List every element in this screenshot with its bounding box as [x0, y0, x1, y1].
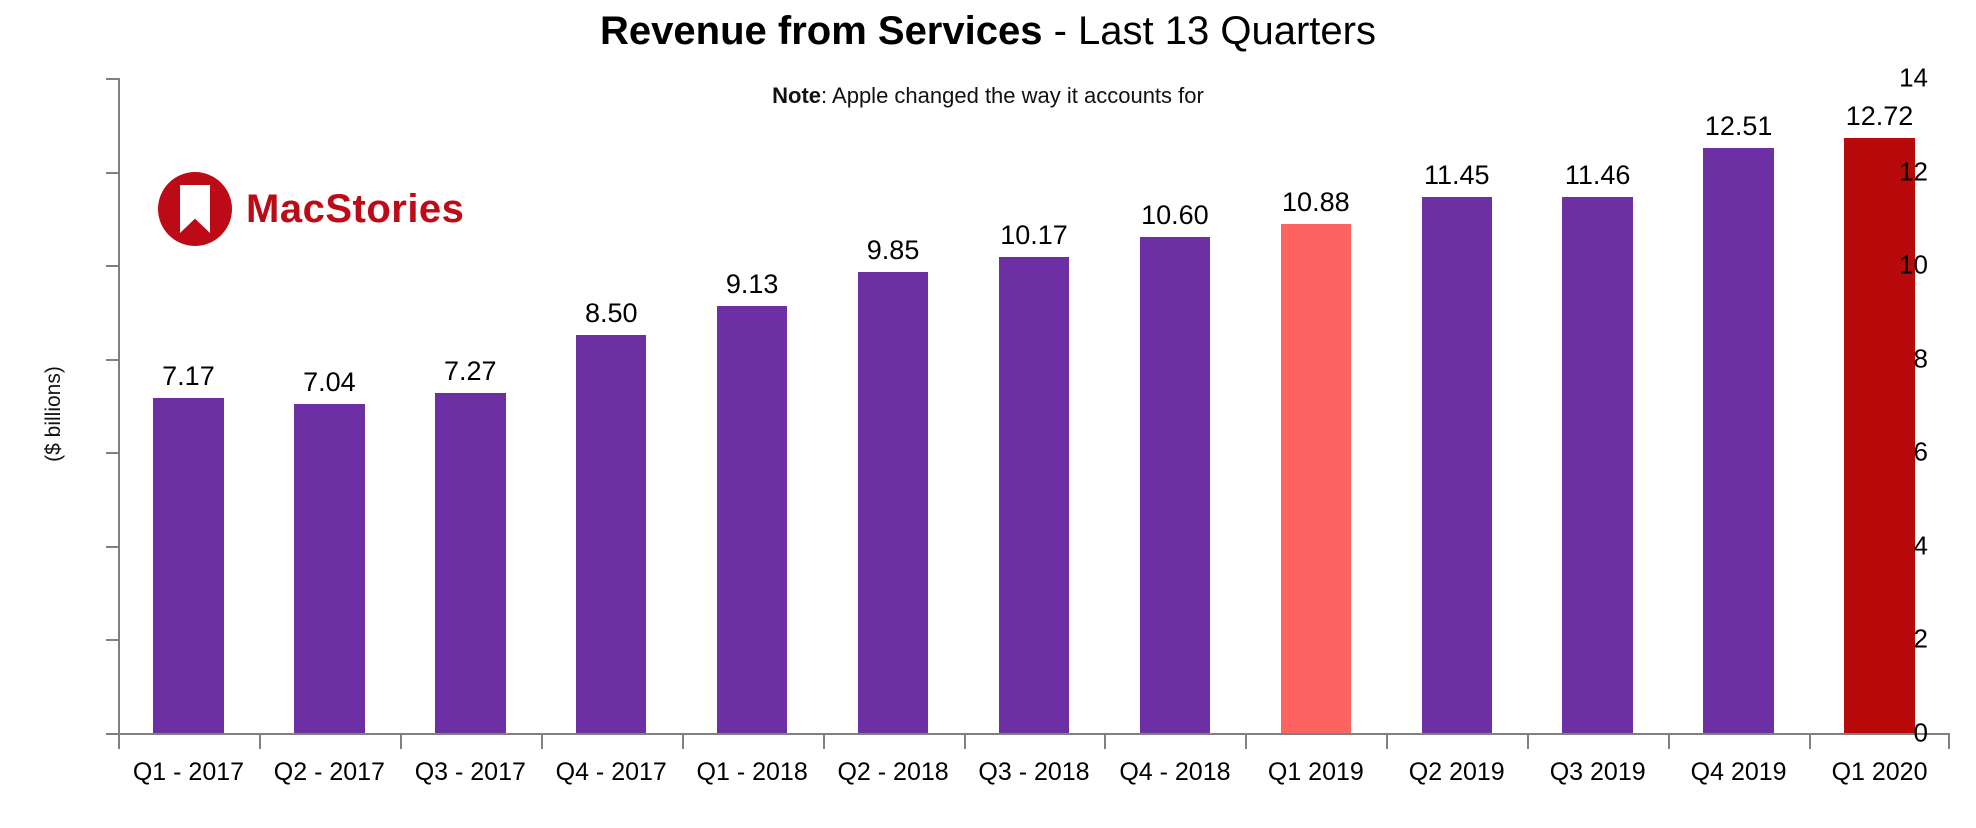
bar[interactable]: 12.51	[1703, 148, 1773, 733]
x-axis-tick-label: Q1 - 2018	[697, 758, 808, 787]
x-axis-tick-label: Q4 - 2017	[556, 758, 667, 787]
x-axis-tick	[118, 735, 120, 749]
y-axis-tick-label: 6	[1914, 437, 1928, 468]
bar[interactable]: 7.04	[294, 404, 364, 733]
x-axis-tick-label: Q1 2019	[1268, 758, 1364, 787]
x-axis-tick	[964, 735, 966, 749]
x-axis-tick	[1104, 735, 1106, 749]
bar[interactable]: 7.27	[435, 393, 505, 733]
x-axis-tick-label: Q2 2019	[1409, 758, 1505, 787]
chart-canvas: Revenue from Services - Last 13 Quarters…	[0, 0, 1976, 828]
x-axis-tick-label: Q3 2019	[1550, 758, 1646, 787]
y-axis-tick	[106, 546, 118, 548]
x-axis-tick	[1668, 735, 1670, 749]
x-axis-tick-label: Q4 2019	[1691, 758, 1787, 787]
y-axis-tick-label: 8	[1914, 343, 1928, 374]
x-axis-tick	[1386, 735, 1388, 749]
y-axis-tick	[106, 733, 118, 735]
bar-value-label: 12.51	[1705, 111, 1773, 142]
x-axis-tick	[1948, 735, 1950, 749]
y-axis-tick-label: 0	[1914, 718, 1928, 749]
bar-value-label: 9.85	[867, 235, 920, 266]
bar[interactable]: 8.50	[576, 335, 646, 733]
y-axis-tick	[106, 639, 118, 641]
bar[interactable]: 10.88	[1281, 224, 1351, 733]
bar-value-label: 11.45	[1424, 160, 1490, 191]
bar[interactable]: 7.17	[153, 398, 223, 733]
bar[interactable]: 11.46	[1562, 197, 1632, 733]
macstories-wordmark: MacStories	[246, 187, 464, 232]
y-axis-tick	[106, 172, 118, 174]
y-axis-tick-label: 14	[1899, 63, 1928, 94]
x-axis-tick-label: Q2 - 2018	[837, 758, 948, 787]
bar[interactable]: 10.17	[999, 257, 1069, 733]
chart-title-strong: Revenue from Services	[600, 9, 1042, 53]
x-axis-tick-label: Q1 2020	[1832, 758, 1928, 787]
bar-value-label: 7.27	[444, 356, 497, 387]
y-axis-tick	[106, 78, 118, 80]
bookmark-ribbon-shape	[180, 185, 210, 233]
x-axis-tick	[1245, 735, 1247, 749]
bar[interactable]: 11.45	[1422, 197, 1492, 733]
bar-value-label: 12.72	[1846, 101, 1914, 132]
bar[interactable]: 9.85	[858, 272, 928, 733]
bar-value-label: 10.17	[1000, 220, 1068, 251]
bar-value-label: 7.04	[303, 367, 356, 398]
bar[interactable]: 10.60	[1140, 237, 1210, 733]
x-axis-tick	[400, 735, 402, 749]
macstories-bookmark-icon	[158, 172, 232, 246]
y-axis-tick	[106, 265, 118, 267]
bar-value-label: 11.46	[1565, 160, 1631, 191]
bar-value-label: 8.50	[585, 298, 638, 329]
x-axis-tick	[682, 735, 684, 749]
y-axis-tick-label: 2	[1914, 624, 1928, 655]
bar-value-label: 10.60	[1141, 200, 1209, 231]
y-axis-tick	[106, 452, 118, 454]
x-axis-tick	[823, 735, 825, 749]
x-axis-tick	[1809, 735, 1811, 749]
x-axis-tick-label: Q4 - 2018	[1119, 758, 1230, 787]
x-axis-line	[118, 733, 1950, 735]
bar-value-label: 9.13	[726, 269, 779, 300]
x-axis-tick-label: Q2 - 2017	[274, 758, 385, 787]
y-axis-tick	[106, 359, 118, 361]
x-axis-tick-label: Q3 - 2017	[415, 758, 526, 787]
bar-value-label: 10.88	[1282, 187, 1350, 218]
bar[interactable]: 9.13	[717, 306, 787, 733]
x-axis-tick-label: Q3 - 2018	[978, 758, 1089, 787]
bar[interactable]: 12.72	[1844, 138, 1914, 733]
chart-title-rest: - Last 13 Quarters	[1042, 9, 1375, 53]
y-axis-tick-label: 4	[1914, 530, 1928, 561]
chart-title: Revenue from Services - Last 13 Quarters	[0, 8, 1976, 54]
y-axis-tick-label: 12	[1899, 156, 1928, 187]
y-axis-label: ($ billions)	[42, 366, 66, 462]
macstories-logo: MacStories	[158, 172, 464, 246]
x-axis-tick-label: Q1 - 2017	[133, 758, 244, 787]
x-axis-tick	[541, 735, 543, 749]
x-axis-tick	[1527, 735, 1529, 749]
y-axis-tick-label: 10	[1899, 250, 1928, 281]
x-axis-tick	[259, 735, 261, 749]
bar-value-label: 7.17	[162, 361, 215, 392]
